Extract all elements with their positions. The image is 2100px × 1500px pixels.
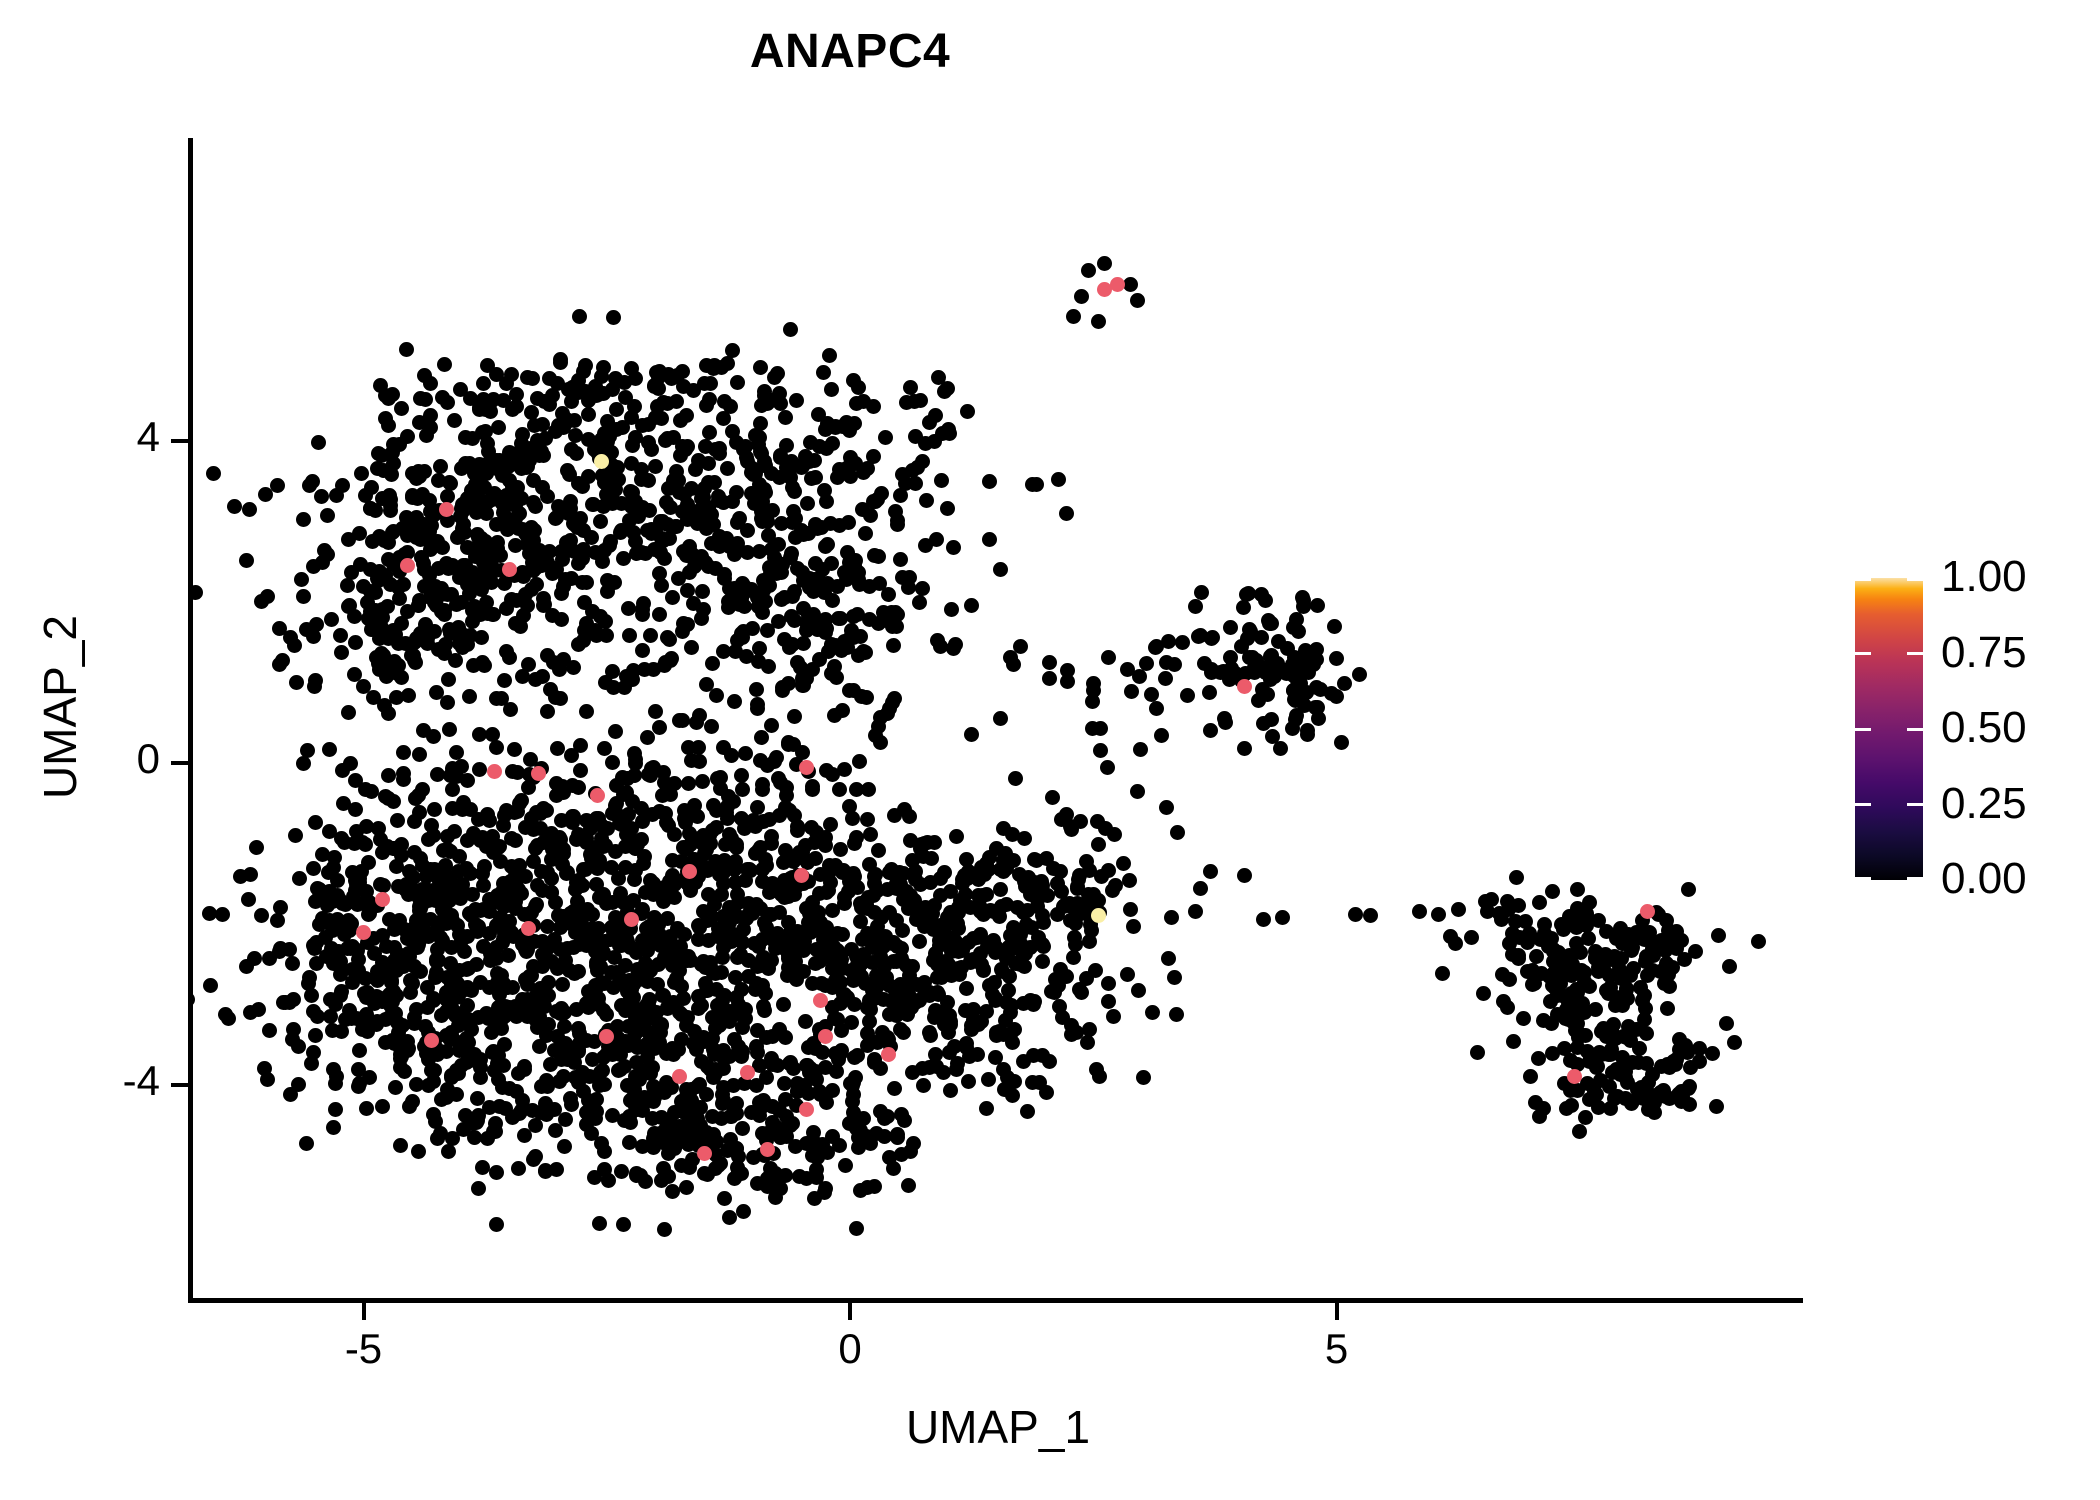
scatter-point [641,473,656,488]
scatter-point [497,1037,512,1052]
scatter-point [1074,289,1089,304]
scatter-point [356,679,371,694]
scatter-point [414,550,429,565]
scatter-point [1608,998,1623,1013]
scatter-point [1329,689,1344,704]
scatter-point [455,504,470,519]
scatter-point [1495,967,1510,982]
scatter-point [323,1009,338,1024]
scatter-point [376,463,391,478]
scatter-point [756,999,771,1014]
scatter-point [1203,864,1218,879]
scatter-point [296,756,311,771]
scatter-point [471,1181,486,1196]
scatter-point [628,430,643,445]
scatter-point-highlighted [881,1047,896,1062]
scatter-point [320,547,335,562]
scatter-point [908,476,923,491]
scatter-point [521,657,536,672]
scatter-point [916,1078,931,1093]
scatter-point [249,840,264,855]
scatter-point [628,534,643,549]
scatter-point [593,514,608,529]
scatter-point [695,774,710,789]
scatter-point [567,966,582,981]
scatter-point [981,1072,996,1087]
scatter-point [660,396,675,411]
scatter-point [424,818,439,833]
scatter-point [870,919,885,934]
scatter-point [755,494,770,509]
scatter-point [782,640,797,655]
scatter-point [381,768,396,783]
scatter-point [242,502,257,517]
scatter-point [563,494,578,509]
scatter-point [499,488,514,503]
scatter-point [704,719,719,734]
scatter-point [363,501,378,516]
scatter-point [1086,683,1101,698]
scatter-point [849,1221,864,1236]
scatter-point [304,988,319,1003]
x-tick-mark [362,1303,366,1320]
scatter-point [449,745,464,760]
scatter-point [708,1066,723,1081]
scatter-point [1435,966,1450,981]
scatter-point [360,595,375,610]
scatter-point [974,957,989,972]
scatter-point [722,1210,737,1225]
scatter-point [477,658,492,673]
scatter-point [749,682,764,697]
scatter-point [437,607,452,622]
scatter-point [787,709,802,724]
scatter-point [609,796,624,811]
scatter-point [1570,882,1585,897]
scatter-point [973,904,988,919]
scatter-point [350,897,365,912]
scatter-point [1016,996,1031,1011]
scatter-point [903,1144,918,1159]
scatter-point [553,942,568,957]
scatter-point [328,1076,343,1091]
scatter-point [691,1001,706,1016]
scatter-point [273,900,288,915]
scatter-point [755,605,770,620]
scatter-point [1017,959,1032,974]
scatter-point [239,959,254,974]
scatter-point [243,867,258,882]
scatter-point [760,758,775,773]
scatter-point [635,602,650,617]
scatter-point [1203,723,1218,738]
scatter-point [694,611,709,626]
scatter-point [1158,671,1173,686]
scatter-point [1045,790,1060,805]
scatter-point [557,1139,572,1154]
scatter-point [1624,1096,1639,1111]
scatter-point [555,977,570,992]
scatter-point [617,375,632,390]
scatter-point [559,412,574,427]
scatter-point [528,899,543,914]
scatter-point [396,1040,411,1055]
scatter-point [329,488,344,503]
scatter-point [1106,1009,1121,1024]
scatter-point [285,956,300,971]
scatter-point [308,815,323,830]
scatter-point [543,1057,558,1072]
scatter-point [306,629,321,644]
scatter-point [720,461,735,476]
scatter-point [848,553,863,568]
scatter-point [1161,951,1176,966]
scatter-point [943,1083,958,1098]
scatter-point-highlighted [375,892,390,907]
scatter-point [439,1090,454,1105]
scatter-point [771,559,786,574]
scatter-point [1668,1057,1683,1072]
colorbar-tick-label: 1.00 [1941,552,2100,602]
scatter-point [1280,641,1295,656]
scatter-point [712,446,727,461]
scatter-point [556,842,571,857]
scatter-point [850,1048,865,1063]
scatter-point [662,531,677,546]
scatter-point [951,900,966,915]
scatter-point [781,735,796,750]
scatter-point [1602,1079,1617,1094]
scatter-point [467,1047,482,1062]
scatter-point [450,918,465,933]
scatter-point [691,453,706,468]
scatter-point [719,805,734,820]
scatter-point [702,425,717,440]
scatter-point [1528,1095,1543,1110]
scatter-point [667,827,682,842]
scatter-point-highlighted [1110,277,1125,292]
scatter-point [1094,869,1109,884]
scatter-point [289,675,304,690]
scatter-point [489,1217,504,1232]
scatter-point [598,614,613,629]
scatter-point [657,950,672,965]
scatter-point [421,832,436,847]
scatter-point [490,975,505,990]
scatter-point [370,1014,385,1029]
scatter-point [400,429,415,444]
scatter-point [1681,882,1696,897]
scatter-point [378,388,393,403]
scatter-point [851,648,866,663]
scatter-point [1188,599,1203,614]
scatter-point [581,407,596,422]
scatter-point-highlighted [521,921,536,936]
scatter-point [843,630,858,645]
scatter-point [1639,1026,1654,1041]
scatter-point [890,517,905,532]
y-tick-mark [171,761,188,765]
scatter-point [1518,914,1533,929]
scatter-point [473,833,488,848]
x-axis-title: UMAP_1 [193,1400,1803,1454]
scatter-point [1451,902,1466,917]
scatter-point [692,754,707,769]
scatter-point [822,348,837,363]
scatter-point [684,1082,699,1097]
scatter-point [1295,590,1310,605]
scatter-point [460,773,475,788]
scatter-point [755,932,770,947]
scatter-point [846,973,861,988]
scatter-point [302,478,317,493]
scatter-point [567,517,582,532]
scatter-point [433,459,448,474]
scatter-point [946,641,961,656]
scatter-point [396,745,411,760]
scatter-point [475,1160,490,1175]
scatter-point [291,1077,306,1092]
scatter-point [481,494,496,509]
scatter-point [411,788,426,803]
scatter-point [690,1111,705,1126]
colorbar-legend: 1.000.750.500.250.00 [1855,578,1923,880]
scatter-point [1202,685,1217,700]
scatter-point [970,1047,985,1062]
scatter-point [469,505,484,520]
scatter-point [1719,1016,1734,1031]
page-title: ANAPC4 [0,24,1700,79]
scatter-point [503,702,518,717]
scatter-point [1251,693,1266,708]
scatter-point [930,633,945,648]
scatter-point [462,689,477,704]
scatter-point [1093,721,1108,736]
scatter-point [395,1018,410,1033]
scatter-point [697,846,712,861]
scatter-point [1090,814,1105,829]
scatter-point [940,501,955,516]
scatter-point [912,934,927,949]
scatter-point [698,555,713,570]
scatter-point [1091,893,1106,908]
scatter-point [964,727,979,742]
scatter-point [964,598,979,613]
scatter-point [473,536,488,551]
scatter-point [934,473,949,488]
scatter-point [341,532,356,547]
scatter-point [830,579,845,594]
scatter-point [1120,967,1135,982]
scatter-point [928,946,943,961]
scatter-point [489,1165,504,1180]
scatter-point [423,376,438,391]
scatter-point [1310,700,1325,715]
scatter-point [572,1026,587,1041]
scatter-point [328,1102,343,1117]
scatter-point [997,1082,1012,1097]
scatter-point [605,755,620,770]
scatter-point-highlighted [794,868,809,883]
scatter-point [375,1099,390,1114]
scatter-point [215,907,230,922]
scatter-point [721,600,736,615]
y-tick-mark [171,1083,188,1087]
scatter-point [542,397,557,412]
scatter-point [764,718,779,733]
scatter-point [1448,936,1463,951]
scatter-point [887,808,902,823]
scatter-point [470,1091,485,1106]
scatter-point [407,845,422,860]
scatter-point-highlighted [439,502,454,517]
scatter-point [573,763,588,778]
scatter-point [707,897,722,912]
scatter-point [608,724,623,739]
scatter-point [943,1017,958,1032]
scatter-point [1149,701,1164,716]
scatter-point [935,926,950,941]
scatter-point [852,754,867,769]
scatter-point [1169,1007,1184,1022]
scatter-point [573,738,588,753]
scatter-point [262,1023,277,1038]
scatter-point [670,1121,685,1136]
scatter-point [320,508,335,523]
scatter-point [802,580,817,595]
scatter-point [1020,1104,1035,1119]
scatter-point [687,798,702,813]
colorbar-tick-mark [1855,578,1871,581]
scatter-point [944,602,959,617]
scatter-point [1273,741,1288,756]
scatter-point [311,435,326,450]
scatter-point [722,827,737,842]
scatter-point [579,704,594,719]
scatter-point [504,592,519,607]
scatter-point [536,801,551,816]
scatter-point [407,814,422,829]
scatter-point [1588,950,1603,965]
scatter-point [1688,944,1703,959]
scatter-point [1079,971,1094,986]
scatter-point [1711,928,1726,943]
scatter-point [599,896,614,911]
scatter-point [735,1121,750,1136]
scatter-point [616,1217,631,1232]
scatter-point [902,809,917,824]
scatter-point [754,398,769,413]
scatter-point [886,638,901,653]
scatter-point [830,1012,845,1027]
scatter-point [942,426,957,441]
scatter-point [605,1047,620,1062]
scatter-point [901,1178,916,1193]
scatter-point [553,355,568,370]
scatter-point [606,980,621,995]
scatter-point [681,776,696,791]
scatter-point [437,357,452,372]
scatter-point [761,659,776,674]
scatter-point [679,1180,694,1195]
scatter-point [724,1109,739,1124]
scatter-point [683,883,698,898]
scatter-point [895,467,910,482]
scatter-point [1327,619,1342,634]
scatter-point [1572,1124,1587,1139]
scatter-point [335,763,350,778]
scatter-point [789,393,804,408]
scatter-point [1256,912,1271,927]
scatter-point [937,865,952,880]
scatter-point [824,382,839,397]
scatter-point [535,669,550,684]
scatter-point [871,843,886,858]
scatter-point [548,424,563,439]
x-tick-label: 5 [1277,1325,1397,1373]
scatter-point [741,907,756,922]
scatter-point [810,622,825,637]
scatter-point [1053,864,1068,879]
scatter-point [1154,728,1169,743]
scatter-point [627,872,642,887]
scatter-point [830,926,845,941]
scatter-point [675,439,690,454]
scatter-panel [193,140,1803,1301]
scatter-point [614,1164,629,1179]
scatter-point [489,740,504,755]
scatter-point-highlighted [624,912,639,927]
scatter-point [626,977,641,992]
scatter-point [1093,743,1108,758]
scatter-point [706,361,721,376]
scatter-point [643,628,658,643]
scatter-point [1275,910,1290,925]
scatter-point [544,852,559,867]
scatter-point [589,877,604,892]
scatter-point [1722,959,1737,974]
scatter-point [606,310,621,325]
scatter-point [684,640,699,655]
scatter-point [206,466,221,481]
colorbar-tick-mark [1907,803,1923,806]
scatter-point [862,993,877,1008]
scatter-point [798,1014,813,1029]
scatter-point [517,1062,532,1077]
scatter-point [334,1024,349,1039]
scatter-point [526,495,541,510]
scatter-point [927,1010,942,1025]
scatter-point [1506,1034,1521,1049]
scatter-point [929,532,944,547]
scatter-point [241,892,256,907]
scatter-point [443,476,458,491]
scatter-point [1237,868,1252,883]
scatter-point [640,730,655,745]
scatter-point [775,683,790,698]
scatter-point [1578,1110,1593,1125]
scatter-point [521,780,536,795]
scatter-point [987,975,1002,990]
scatter-point [1005,827,1020,842]
scatter-point [412,593,427,608]
scatter-point [294,572,309,587]
scatter-point [1334,735,1349,750]
scatter-point [970,930,985,945]
scatter-point [312,889,327,904]
scatter-point [536,591,551,606]
colorbar-tick-mark [1855,877,1871,880]
